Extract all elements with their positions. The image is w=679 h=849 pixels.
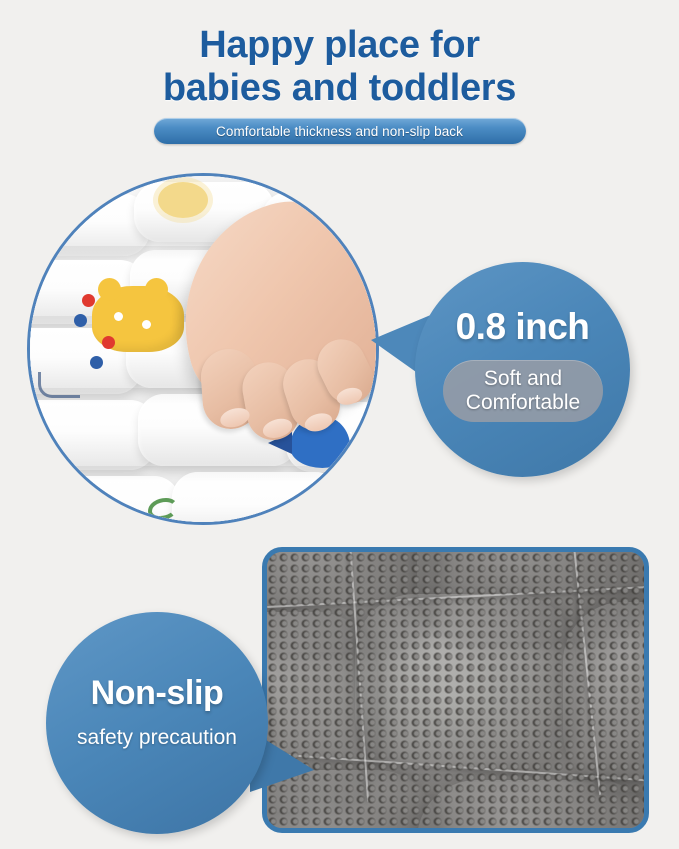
page-title-line-1: Happy place for (199, 24, 480, 66)
red-dot-motif (102, 336, 115, 349)
nonslip-callout: Non-slip safety precaution (46, 612, 268, 834)
nonslip-photo (262, 547, 649, 833)
blue-dot-motif (74, 314, 87, 327)
blue-dot-motif (90, 356, 103, 369)
page-title-line-2: babies and toddlers (0, 67, 679, 110)
thickness-photo (27, 173, 379, 525)
quilt-seam (30, 466, 379, 482)
badge-line-1: Soft and (484, 367, 562, 391)
mattress-surface (30, 176, 376, 522)
print-scribble (38, 372, 80, 398)
thickness-callout: 0.8 inch Soft and Comfortable (415, 262, 630, 477)
red-dot-motif (82, 294, 95, 307)
quilt-puff (27, 400, 156, 470)
nonslip-dots-highlight (267, 552, 644, 828)
sun-motif (158, 182, 208, 218)
badge-line-2: Comfortable (466, 391, 580, 415)
callout-disc (46, 612, 268, 834)
soft-comfortable-badge: Soft and Comfortable (443, 360, 603, 422)
subtitle-banner-label: Comfortable thickness and non-slip back (216, 124, 463, 139)
subtitle-banner: Comfortable thickness and non-slip back (154, 118, 526, 144)
nonslip-title: Non-slip (46, 674, 268, 713)
page-title: Happy place for babies and toddlers (0, 24, 679, 111)
nonslip-surface (267, 552, 644, 828)
nonslip-subtitle: safety precaution (46, 726, 268, 750)
thickness-value: 0.8 inch (415, 306, 630, 348)
